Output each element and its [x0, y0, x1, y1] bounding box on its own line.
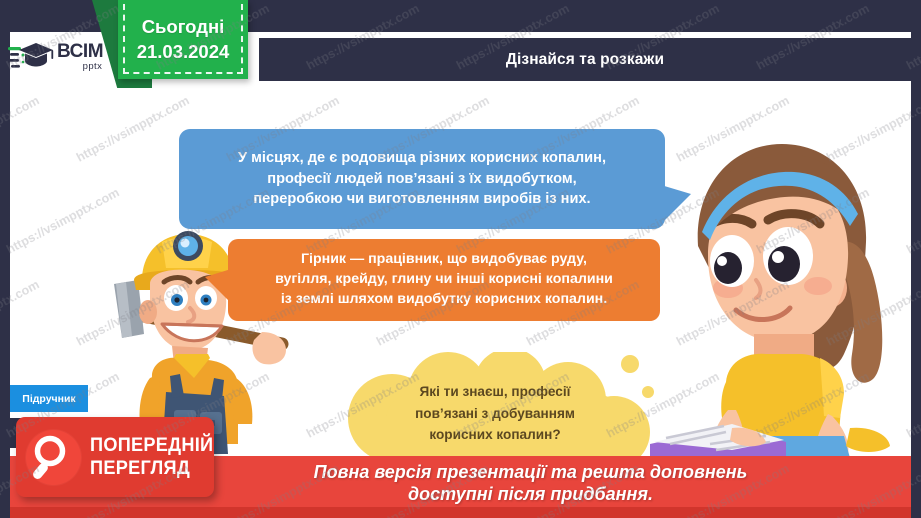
cloud-line-3: корисних копалин? — [429, 425, 560, 446]
orange-bubble-line-2: вугілля, крейду, глину чи інші корисні к… — [275, 270, 613, 290]
side-box-textbook: Підручник — [10, 385, 88, 412]
slide-header-bar: Дізнайся та розкажи — [259, 38, 911, 81]
orange-bubble-tail — [205, 269, 231, 303]
date-badge: Сьогодні 21.03.2024 — [118, 0, 248, 79]
preview-badge-line-1: ПОПЕРЕДНІЙ — [90, 436, 213, 456]
purchase-notice-line-2: доступні після придбання. — [408, 484, 653, 506]
blue-bubble-tail — [661, 185, 691, 224]
slide-preview-stage: ВСІМ pptx Сьогодні 21.03.2024 Дізнайся т… — [0, 0, 921, 518]
blue-bubble-line-3: переробкою чи виготовленням виробів із н… — [253, 189, 590, 210]
date-badge-label: Сьогодні — [142, 16, 225, 39]
logo-name: ВСІМ — [57, 42, 103, 61]
preview-badge[interactable]: ПОПЕРЕДНІЙ ПЕРЕГЛЯД — [16, 417, 214, 497]
blue-bubble-line-1: У місцях, де є родовища різних корисних … — [238, 148, 606, 169]
blue-speech-bubble: У місцях, де є родовища різних корисних … — [179, 129, 665, 229]
slide-title: Дізнайся та розкажи — [506, 51, 664, 69]
magnifier-icon — [25, 429, 82, 486]
girl-reading-character — [636, 128, 914, 458]
brand-logo: ВСІМ pptx — [8, 33, 120, 80]
orange-bubble-line-3: із землі шляхом видобутку корисних копал… — [281, 290, 607, 310]
banner-bottom-edge — [10, 507, 911, 518]
cloud-text: Які ти знаєш, професії пов’язані з добув… — [330, 382, 660, 446]
cloud-line-2: пов’язані з добуванням — [415, 404, 575, 425]
purchase-notice-line-1: Повна версія презентації та решта доповн… — [314, 462, 748, 484]
preview-badge-text: ПОПЕРЕДНІЙ ПЕРЕГЛЯД — [90, 436, 223, 479]
cloud-line-1: Які ти знаєш, професії — [420, 382, 571, 403]
preview-badge-line-2: ПЕРЕГЛЯД — [90, 459, 213, 479]
orange-bubble-line-1: Гірник — працівник, що видобуває руду, — [301, 250, 587, 270]
logo-subtitle: pptx — [83, 62, 104, 72]
orange-speech-bubble: Гірник — працівник, що видобуває руду, в… — [228, 239, 660, 321]
side-box-textbook-label: Підручник — [22, 393, 75, 405]
graduation-cap-icon — [8, 40, 54, 74]
blue-bubble-line-2: професії людей пов’язані з їх видобутком… — [267, 169, 576, 190]
date-badge-value: 21.03.2024 — [137, 41, 230, 64]
